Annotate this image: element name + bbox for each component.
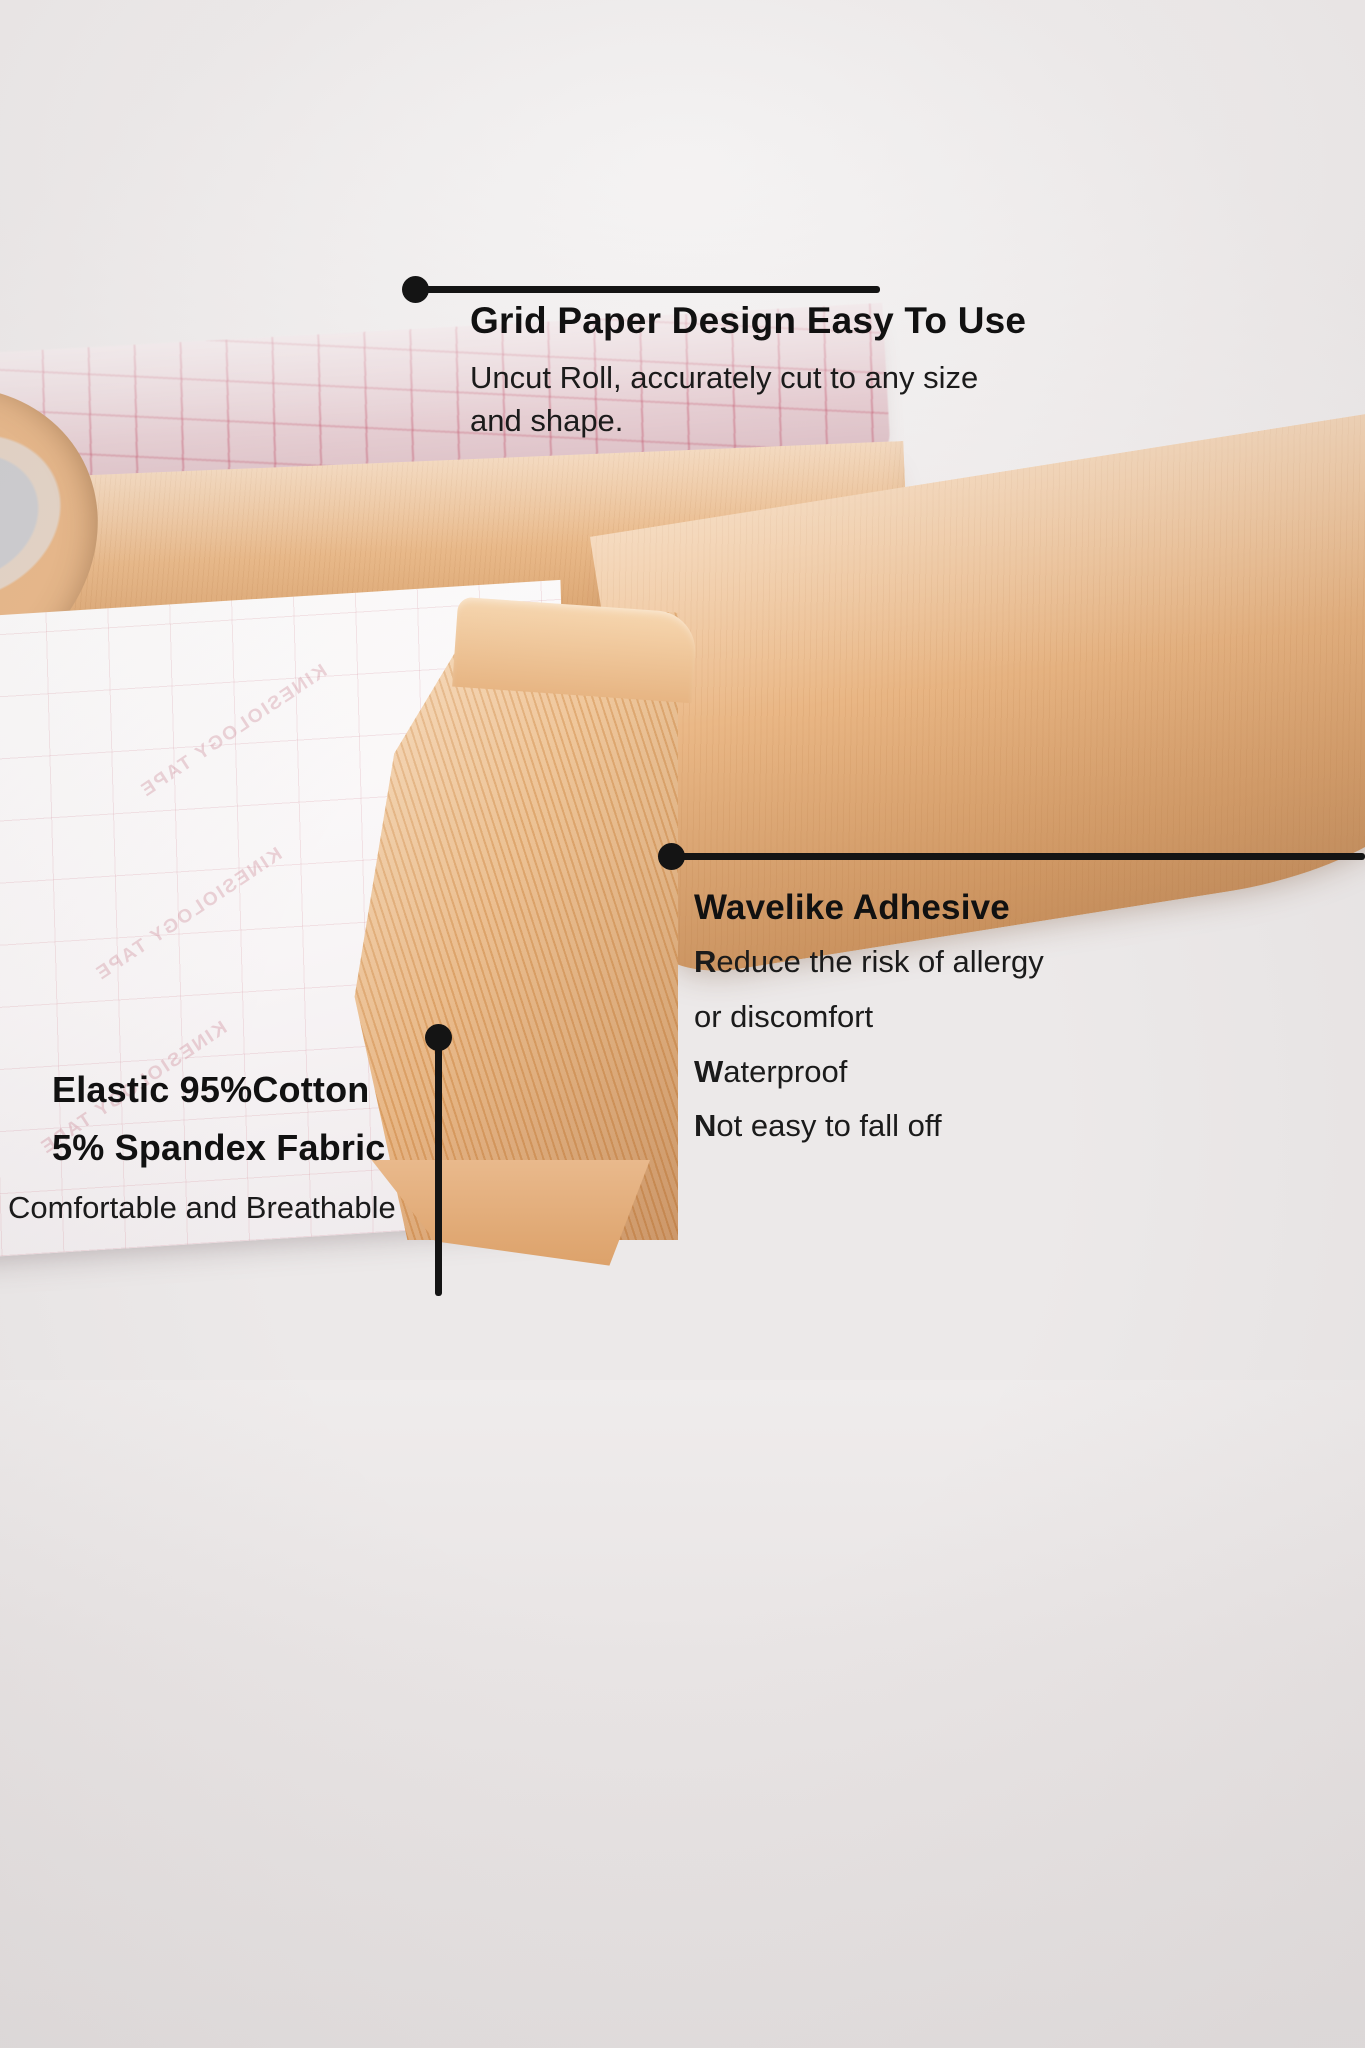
callout-line-fabric [435,1038,442,1296]
callout-line-item: Waterproof [694,1051,1044,1094]
callout-body-grid-paper: Uncut Roll, accurately cut to any size a… [470,357,1030,443]
callout-fabric-composition: Elastic 95%Cotton 5% Spandex Fabric Comf… [52,1070,396,1229]
callout-heading-wavelike-adhesive: Wavelike Adhesive [694,888,1044,927]
callout-wavelike-adhesive: Wavelike Adhesive Reduce the risk of all… [694,888,1044,1148]
callout-line-grid-paper [415,286,880,293]
callout-heading-fabric-line1: Elastic 95%Cotton [52,1070,396,1110]
callout-lead-letter: W [694,1054,723,1089]
callout-grid-paper: Grid Paper Design Easy To Use Uncut Roll… [470,300,1030,443]
callout-line-item: Not easy to fall off [694,1105,1044,1148]
callout-line-rest: or discomfort [694,999,873,1034]
callout-lead-letter: R [694,944,716,979]
callout-lead-letter: N [694,1108,716,1143]
callout-heading-fabric-line2: 5% Spandex Fabric [52,1128,396,1168]
callout-line-rest: educe the risk of allergy [716,944,1043,979]
callout-line-rest: aterproof [723,1054,847,1089]
callout-body-fabric: Comfortable and Breathable [8,1187,396,1230]
callout-line-item: or discomfort [694,996,1044,1039]
callout-heading-grid-paper: Grid Paper Design Easy To Use [470,300,1030,341]
product-photo-scene: KINESIOLOGY TAPE KINESIOLOGY TAPE KINESI… [0,0,1365,2048]
callout-line-item: Reduce the risk of allergy [694,941,1044,984]
callout-line-rest: ot easy to fall off [716,1108,941,1143]
callout-line-wavelike-adhesive [672,853,1365,860]
callout-body-wavelike-adhesive: Reduce the risk of allergy or discomfort… [694,941,1044,1148]
